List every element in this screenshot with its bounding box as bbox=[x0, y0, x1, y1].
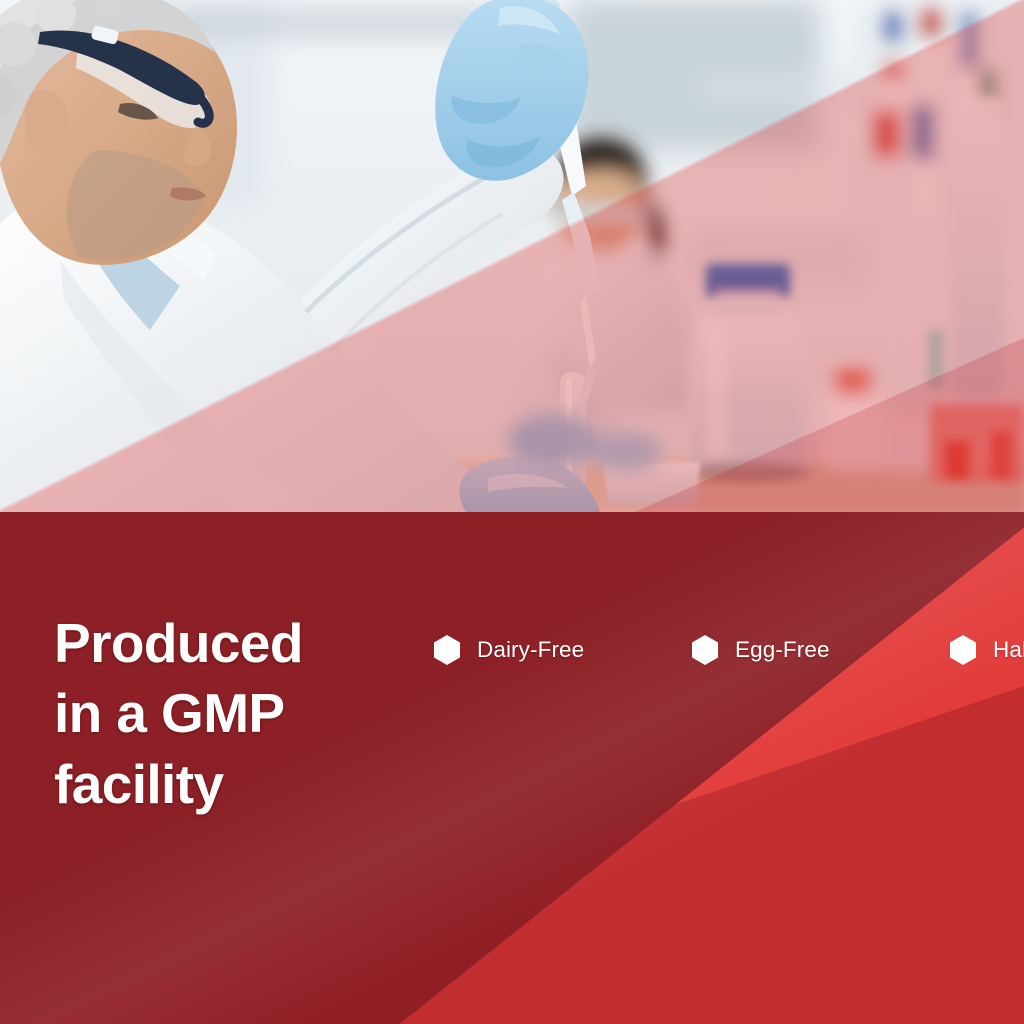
gmp-facility-poster: Produced in a GMP facility Dairy-Free Eg… bbox=[0, 0, 1024, 1024]
laboratory-photo-illustration bbox=[0, 0, 1024, 512]
headline-line-2: in a GMP bbox=[54, 678, 414, 748]
headline-line-1: Produced bbox=[54, 608, 414, 678]
claims-list: Dairy-Free Egg-Free Halal bbox=[434, 616, 1024, 684]
claim-label: Egg-Free bbox=[735, 637, 830, 663]
red-content-panel: Produced in a GMP facility Dairy-Free Eg… bbox=[0, 512, 1024, 1024]
hexagon-icon bbox=[950, 635, 976, 665]
hexagon-icon bbox=[434, 635, 460, 665]
headline-line-3: facility bbox=[54, 749, 414, 819]
list-item: Dairy-Free bbox=[434, 635, 692, 665]
panel-content: Produced in a GMP facility Dairy-Free Eg… bbox=[0, 512, 1024, 1024]
claim-label: Dairy-Free bbox=[477, 637, 584, 663]
tube-rack bbox=[930, 404, 1024, 482]
laboratory-photo bbox=[0, 0, 1024, 512]
claim-label: Halal bbox=[993, 637, 1024, 663]
list-item: Egg-Free bbox=[692, 635, 950, 665]
list-item: Halal bbox=[950, 635, 1024, 665]
hexagon-icon bbox=[692, 635, 718, 665]
page-title: Produced in a GMP facility bbox=[54, 608, 414, 819]
